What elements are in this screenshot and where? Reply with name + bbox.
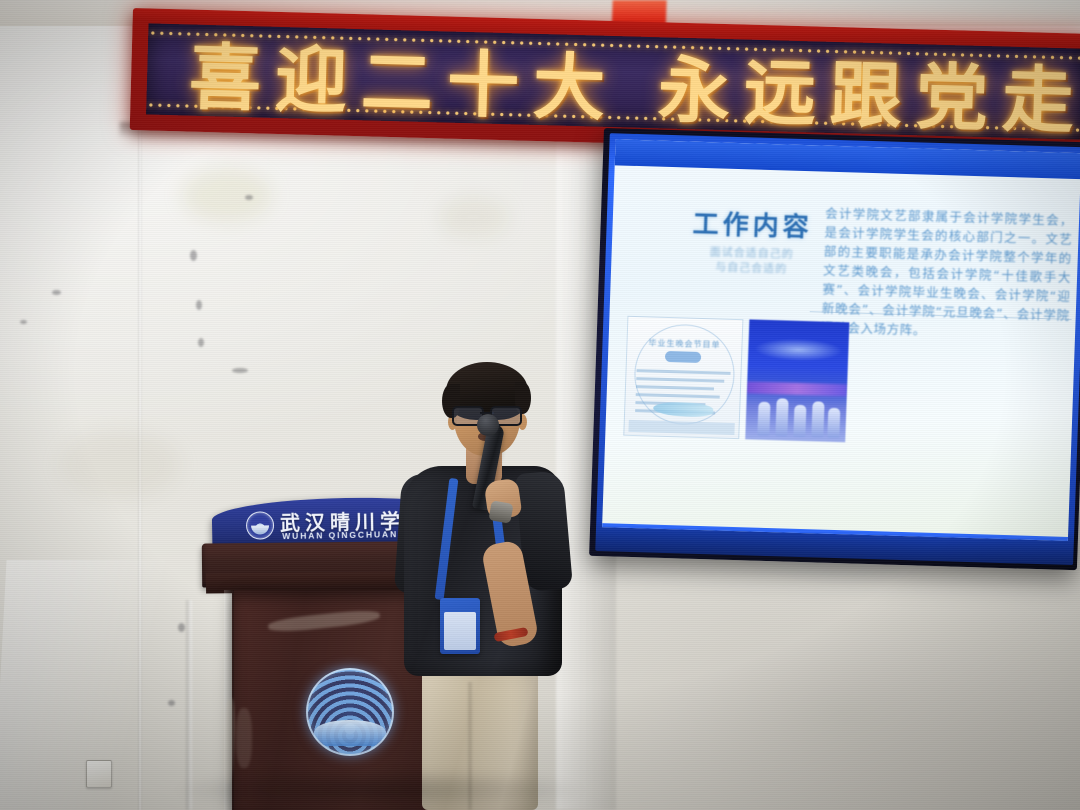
lectern-scuff — [236, 708, 252, 768]
wall-mark — [20, 320, 27, 324]
stage-figure — [793, 405, 806, 437]
speaker-id-badge — [440, 598, 480, 654]
university-emblem-icon — [306, 668, 394, 756]
presentation-slide: 工作内容 面试合适自己的 与自己合适的 会计学院文艺部隶属于会计学院学生会，是会… — [602, 139, 1080, 541]
microphone-grip — [488, 500, 513, 524]
wall-stain — [182, 168, 272, 222]
screen-blue-edge: 工作内容 面试合适自己的 与自己合适的 会计学院文艺部隶属于会计学院学生会，是会… — [595, 133, 1080, 565]
wall-mark — [196, 300, 202, 310]
badge-card — [444, 612, 476, 650]
stage-figure — [757, 402, 770, 436]
slide-thumbnail-photo — [745, 319, 849, 442]
lectern-scuff — [268, 608, 381, 634]
wall-mark — [232, 368, 248, 373]
wall-stain — [60, 430, 180, 500]
photo-scene: 喜迎二十大 永远跟党走 工作内容 面试合适自己的 与自己合适的 会计学院文艺部隶… — [0, 0, 1080, 810]
floor-shadow — [170, 770, 590, 810]
thumbnail-footer — [628, 420, 734, 435]
wall-mark — [245, 195, 253, 200]
university-logo-icon — [246, 511, 274, 539]
stage-light-glow — [754, 338, 843, 363]
slide-paragraph: 会计学院文艺部隶属于会计学院学生会，是会计学院学生会的核心部门之一。文艺部的主要… — [821, 204, 1074, 344]
wall-mark — [52, 290, 61, 295]
stage-band — [747, 381, 847, 396]
slide-thumbnail-program: 毕业生晚会节目单 — [623, 316, 743, 439]
wall-outlet-icon — [86, 760, 112, 788]
stage-figure — [827, 408, 840, 438]
slide-title: 工作内容 — [652, 202, 853, 245]
wall-mark — [178, 623, 185, 632]
wall-mark — [168, 700, 175, 706]
projection-screen: 工作内容 面试合适自己的 与自己合适的 会计学院文艺部隶属于会计学院学生会，是会… — [589, 128, 1080, 570]
thumbnail-badge — [665, 351, 701, 363]
stage-figure — [811, 401, 824, 437]
slide-subtitle: 面试合适自己的 与自己合适的 — [651, 242, 852, 278]
wall-mark — [198, 338, 204, 347]
stage-figure — [775, 398, 788, 436]
slide-body: 工作内容 面试合适自己的 与自己合适的 会计学院文艺部隶属于会计学院学生会，是会… — [602, 165, 1080, 541]
wall-stain — [438, 196, 508, 238]
speaker — [398, 362, 598, 810]
wall-mark — [190, 250, 197, 261]
